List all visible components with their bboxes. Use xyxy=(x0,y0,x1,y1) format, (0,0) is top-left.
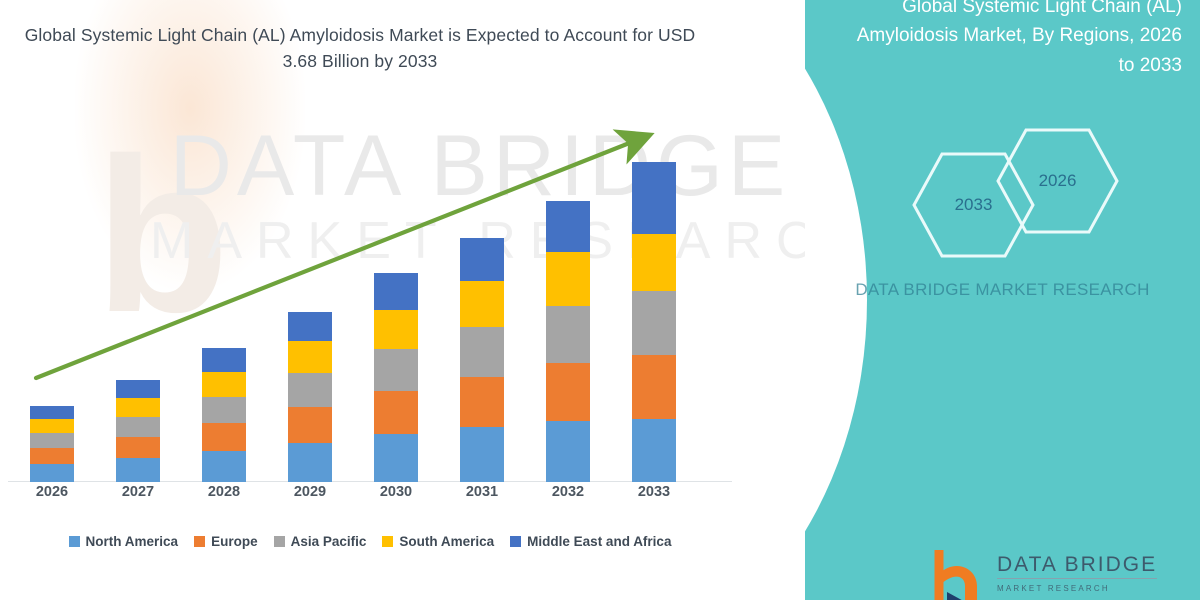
bar-segment-south-america xyxy=(632,234,676,291)
bar-segment-asia-pacific xyxy=(632,291,676,355)
bar-segment-middle-east-and-africa xyxy=(288,312,332,342)
logo-wordmark: DATA BRIDGE MARKET RESEARCH xyxy=(997,548,1157,593)
legend-label: South America xyxy=(399,534,494,549)
legend-swatch-icon xyxy=(69,536,80,547)
hexagon-2033-label: 2033 xyxy=(955,195,993,215)
chart-legend: North AmericaEuropeAsia PacificSouth Ame… xyxy=(0,534,740,549)
logo-subtitle: MARKET RESEARCH xyxy=(997,584,1157,593)
bar-segment-south-america xyxy=(374,310,418,349)
bar-segment-north-america xyxy=(546,421,590,482)
bar-segment-middle-east-and-africa xyxy=(30,406,74,419)
bar-segment-asia-pacific xyxy=(202,397,246,423)
bar-segment-middle-east-and-africa xyxy=(546,201,590,251)
legend-item-north-america[interactable]: North America xyxy=(69,534,179,549)
bar-2029 xyxy=(288,312,332,482)
bar-segment-middle-east-and-africa xyxy=(202,348,246,371)
legend-label: North America xyxy=(86,534,179,549)
bar-segment-south-america xyxy=(460,281,504,327)
bar-segment-europe xyxy=(460,377,504,427)
bar-segment-asia-pacific xyxy=(288,373,332,407)
bar-segment-middle-east-and-africa xyxy=(374,273,418,310)
logo-divider xyxy=(997,578,1157,579)
bar-segment-europe xyxy=(374,391,418,434)
legend-label: Asia Pacific xyxy=(291,534,367,549)
bar-2027 xyxy=(116,380,160,482)
bar-segment-middle-east-and-africa xyxy=(460,238,504,281)
legend-swatch-icon xyxy=(274,536,285,547)
bar-2031 xyxy=(460,238,504,482)
legend-swatch-icon xyxy=(382,536,393,547)
bar-segment-asia-pacific xyxy=(116,417,160,437)
x-axis-tick-2031: 2031 xyxy=(452,484,512,500)
hexagon-2026-label: 2026 xyxy=(1039,171,1077,191)
bar-segment-europe xyxy=(546,363,590,421)
bar-segment-asia-pacific xyxy=(374,349,418,391)
bar-segment-north-america xyxy=(202,451,246,482)
bar-2032 xyxy=(546,201,590,482)
bar-segment-europe xyxy=(632,355,676,419)
bar-segment-north-america xyxy=(116,458,160,482)
hexagon-2033: 2033 xyxy=(911,150,1036,260)
legend-item-europe[interactable]: Europe xyxy=(194,534,258,549)
bar-segment-middle-east-and-africa xyxy=(632,162,676,234)
bar-segment-asia-pacific xyxy=(30,433,74,448)
logo-title: DATA BRIDGE xyxy=(997,554,1157,575)
legend-item-asia-pacific[interactable]: Asia Pacific xyxy=(274,534,367,549)
bar-2033 xyxy=(632,162,676,482)
logo-mark-icon xyxy=(933,548,983,600)
legend-swatch-icon xyxy=(194,536,205,547)
bar-segment-north-america xyxy=(632,419,676,482)
bar-segment-europe xyxy=(30,448,74,464)
bar-segment-south-america xyxy=(30,419,74,433)
bar-segment-europe xyxy=(288,407,332,443)
x-axis-tick-2029: 2029 xyxy=(280,484,340,500)
bar-segment-north-america xyxy=(460,427,504,482)
legend-label: Middle East and Africa xyxy=(527,534,671,549)
bar-segment-middle-east-and-africa xyxy=(116,380,160,397)
bar-segment-south-america xyxy=(288,341,332,373)
x-axis-tick-2032: 2032 xyxy=(538,484,598,500)
bar-2026 xyxy=(30,406,74,482)
bar-segment-europe xyxy=(202,423,246,451)
x-axis-labels: 20262027202820292030203120322033 xyxy=(0,482,740,508)
x-axis-tick-2028: 2028 xyxy=(194,484,254,500)
bar-segment-asia-pacific xyxy=(460,327,504,377)
x-axis-tick-2030: 2030 xyxy=(366,484,426,500)
legend-item-south-america[interactable]: South America xyxy=(382,534,494,549)
bar-segment-asia-pacific xyxy=(546,306,590,363)
bar-segment-south-america xyxy=(202,372,246,397)
legend-item-middle-east-and-africa[interactable]: Middle East and Africa xyxy=(510,534,671,549)
x-axis-tick-2033: 2033 xyxy=(624,484,684,500)
legend-label: Europe xyxy=(211,534,258,549)
plot-area xyxy=(0,120,740,482)
bar-segment-north-america xyxy=(288,443,332,482)
bar-segment-north-america xyxy=(374,434,418,482)
brand-panel-title: Global Systemic Light Chain (AL) Amyloid… xyxy=(842,0,1182,80)
infographic-root: b DATA BRIDGE MARKET RESEARCH Global Sys… xyxy=(0,0,1200,600)
brand-panel: Global Systemic Light Chain (AL) Amyloid… xyxy=(805,0,1200,600)
bar-segment-europe xyxy=(116,437,160,458)
data-bridge-logo: DATA BRIDGE MARKET RESEARCH xyxy=(933,548,1157,600)
bar-segment-south-america xyxy=(116,398,160,417)
x-axis-tick-2027: 2027 xyxy=(108,484,168,500)
chart-panel: b DATA BRIDGE MARKET RESEARCH Global Sys… xyxy=(0,0,830,600)
legend-swatch-icon xyxy=(510,536,521,547)
x-axis-tick-2026: 2026 xyxy=(22,484,82,500)
bar-2030 xyxy=(374,273,418,482)
bar-segment-north-america xyxy=(30,464,74,482)
bar-2028 xyxy=(202,348,246,482)
brand-name-text: DATA BRIDGE MARKET RESEARCH xyxy=(805,276,1200,303)
bar-segment-south-america xyxy=(546,252,590,306)
chart-title: Global Systemic Light Chain (AL) Amyloid… xyxy=(20,22,700,75)
